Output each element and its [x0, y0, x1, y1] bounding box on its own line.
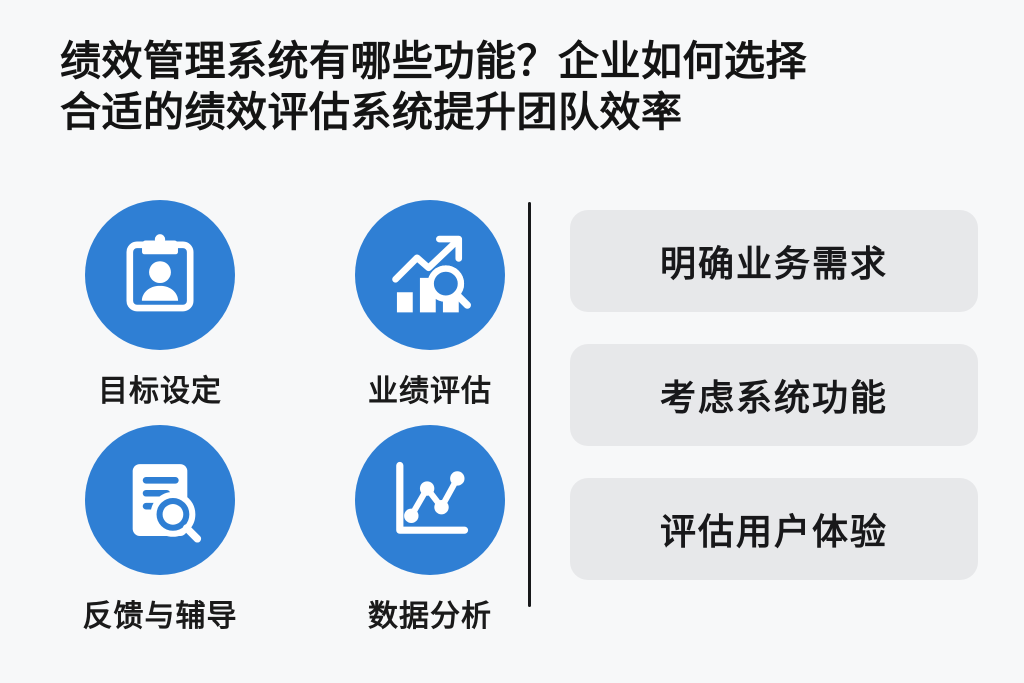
- title-line-1: 绩效管理系统有哪些功能？企业如何选择: [60, 36, 1010, 87]
- feature-label: 反馈与辅导: [60, 591, 260, 635]
- selection-point-label: 考虑系统功能: [660, 369, 888, 421]
- selection-point-label: 评估用户体验: [660, 503, 888, 555]
- selection-point-card[interactable]: 明确业务需求: [570, 210, 978, 312]
- selection-point-card[interactable]: 评估用户体验: [570, 478, 978, 580]
- title-line-2: 合适的绩效评估系统提升团队效率: [60, 87, 1010, 138]
- page-title: 绩效管理系统有哪些功能？企业如何选择 合适的绩效评估系统提升团队效率: [60, 36, 1010, 138]
- selection-point-label: 明确业务需求: [660, 235, 888, 287]
- feature-label: 目标设定: [60, 366, 260, 410]
- line-chart-icon: [384, 454, 476, 546]
- bar-chart-arrow-magnifier-icon: [384, 229, 476, 321]
- feature-icon-badge: [355, 200, 505, 350]
- clipboard-person-icon: [114, 229, 206, 321]
- infographic-canvas: 绩效管理系统有哪些功能？企业如何选择 合适的绩效评估系统提升团队效率 目标设定: [0, 0, 1024, 683]
- feature-icon-grid: 目标设定 业绩评估: [60, 200, 510, 620]
- feature-item-feedback-coaching[interactable]: 反馈与辅导: [60, 425, 260, 635]
- feature-label: 数据分析: [330, 591, 530, 635]
- feature-item-data-analysis[interactable]: 数据分析: [330, 425, 530, 635]
- feature-icon-badge: [85, 200, 235, 350]
- selection-point-card[interactable]: 考虑系统功能: [570, 344, 978, 446]
- vertical-divider: [528, 202, 531, 607]
- feature-icon-badge: [85, 425, 235, 575]
- feature-item-goal-setting[interactable]: 目标设定: [60, 200, 260, 410]
- feature-item-performance-evaluation[interactable]: 业绩评估: [330, 200, 530, 410]
- document-magnifier-icon: [114, 454, 206, 546]
- feature-label: 业绩评估: [330, 366, 530, 410]
- selection-points-list: 明确业务需求 考虑系统功能 评估用户体验: [570, 210, 978, 580]
- feature-icon-badge: [355, 425, 505, 575]
